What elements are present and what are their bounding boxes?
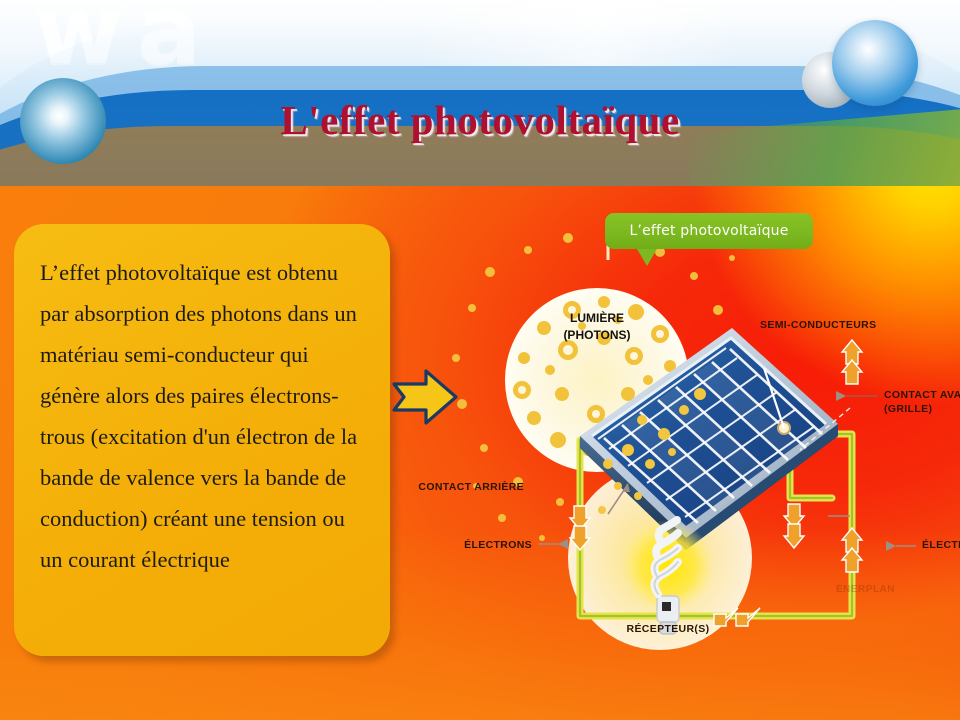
label-semi-conducteurs: SEMI-CONDUCTEURS <box>760 318 876 332</box>
blue-sphere-icon <box>832 20 918 106</box>
lumiere-photons-label: LUMIÈRE (PHOTONS) <box>527 310 667 344</box>
label-recepteurs: RÉCEPTEUR(S) <box>627 622 710 636</box>
diagram-title-badge: L’effet photovoltaïque <box>605 213 813 249</box>
label-contact-avant-line1: CONTACT AVANT <box>884 388 960 402</box>
label-contact-arriere: CONTACT ARRIÈRE <box>418 480 524 494</box>
slide-header: wa solar <box>0 0 960 186</box>
photovoltaic-diagram: L’effet photovoltaïque LUMIÈRE (PHOTONS)… <box>432 198 960 668</box>
description-text: L’effet photovoltaïque est obtenu par ab… <box>14 224 390 580</box>
lumiere-label-line1: LUMIÈRE <box>570 311 624 325</box>
label-electrons-right: ÉLECTRONS <box>922 538 960 552</box>
label-contact-avant-line2: (GRILLE) <box>884 402 932 416</box>
diagram-svg <box>432 198 960 668</box>
description-panel: L’effet photovoltaïque est obtenu par ab… <box>14 224 390 656</box>
label-electrons-left: ÉLECTRONS <box>464 538 532 552</box>
slide: wa solar L'effet photovoltaïque L’effet … <box>0 0 960 720</box>
page-title: L'effet photovoltaïque <box>0 96 960 144</box>
lumiere-label-line2: (PHOTONS) <box>563 328 630 342</box>
diagram-credit-watermark: ENERPLAN <box>836 584 895 595</box>
